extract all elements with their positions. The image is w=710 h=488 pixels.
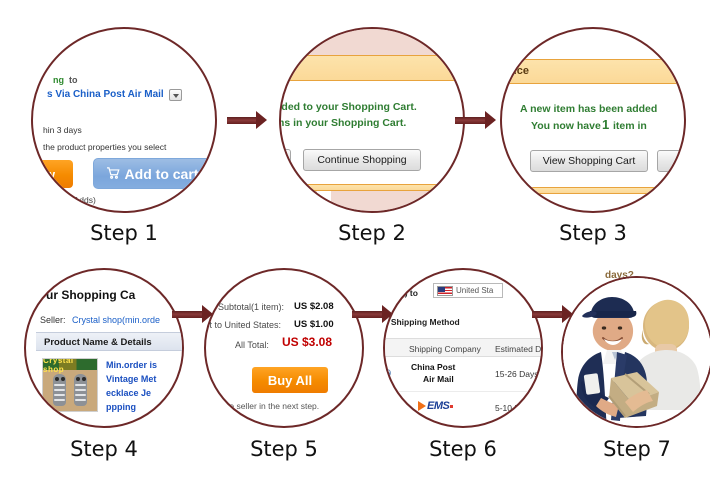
chevron-down-icon[interactable] [169,89,182,101]
partial-button-right[interactable] [657,150,686,172]
ship-to-label: rt(s) to [391,288,418,298]
step2-screenshot: dded to your Shopping Cart. ms in your S… [281,29,463,211]
notice-panel-header: tice [502,59,686,84]
step7-bubble [561,276,710,428]
arrow-step1-step2 [227,111,267,129]
owl-charm-right [74,374,87,406]
cart-message-line1: dded to your Shopping Cart. [279,101,417,113]
all-total-value: US $3.08 [282,335,332,349]
page-background-top [281,29,465,55]
thumbnail-banner-text: Crystal shop [43,359,97,370]
cart-table-header: Product Name & Details [36,332,184,351]
notice-panel-footer [502,187,686,194]
step2-bubble: dded to your Shopping Cart. ms in your S… [279,27,465,213]
step4-label: Step 4 [24,437,184,461]
new-item-message-line2a: You now have [531,120,601,132]
continue-shopping-button[interactable]: Continue Shopping [303,149,421,171]
step1-screenshot: ng to s Via China Post Air Mail hin 3 da… [33,29,215,211]
page-background-bottom-shade [317,191,331,213]
owl-charm-left [53,374,66,406]
new-item-message-line2b: item in [613,120,647,132]
shipping-to-label: to [69,75,78,85]
step3-label: Step 3 [500,221,686,245]
shipping-method-title: se Shipping Method [383,317,460,327]
shipping-label-partial: ng [53,75,64,85]
shipping-table-header: Shipping Company Estimated Deli [385,338,543,357]
step3-bubble: tice A new item has been added You now h… [500,27,686,213]
delivery-photo [563,278,710,426]
all-total-label: All Total: [235,340,269,350]
cart-message-line2: ms in your Shopping Cart. [279,117,406,129]
seller-label: Seller: [40,315,66,325]
step6-screenshot: rt(s) to United Sta se Shipping Method S… [385,270,541,426]
shipping-cost-label: ost to United States: [204,320,281,330]
shipping-company-china-post-line2: Air Mail [423,374,454,384]
step5-bubble: Subtotal(1 item): US $2.08 ost to United… [204,268,364,428]
buy-now-label: ow [37,167,55,182]
product-title-line1[interactable]: Min.order is [106,360,157,370]
product-title-line3[interactable]: ecklace Je [106,388,151,398]
step1-bubble: ng to s Via China Post Air Mail hin 3 da… [31,27,217,213]
step7-label: Step 7 [561,437,710,461]
step3-screenshot: tice A new item has been added You now h… [502,29,684,211]
step5-screenshot: Subtotal(1 item): US $2.08 ost to United… [206,270,362,426]
column-estimated-delivery: Estimated Deli [495,344,543,354]
adds-count-note: 6 Adds) [67,195,96,205]
shipping-row-divider [385,391,543,392]
step6-bubble: rt(s) to United Sta se Shipping Method S… [383,268,543,428]
column-shipping-company: Shipping Company [409,344,481,354]
step5-label: Step 5 [204,437,364,461]
add-to-cart-label: Add to cart [125,166,199,182]
notice-band-bottom [281,184,465,191]
view-shopping-cart-button[interactable]: View Shopping Cart [530,150,648,172]
country-value: United Sta [456,286,493,295]
new-item-message-line1: A new item has been added [520,103,657,115]
new-item-count: 1 [602,117,609,132]
partial-button-left[interactable] [279,149,291,171]
step4-bubble: ur Shopping Ca Seller: Crystal shop(min.… [24,268,184,428]
buy-all-label: Buy All [268,373,312,388]
shipping-company-china-post-line1: China Post [411,362,455,372]
country-selector[interactable]: United Sta [433,283,503,298]
subtotal-value: US $2.08 [294,301,334,312]
notice-band-top [281,55,465,81]
shipping-option-radio-china-post[interactable] [383,369,391,377]
us-flag-icon [437,286,453,296]
arrow-step2-step3 [455,111,497,129]
shipping-cost-value: US $1.00 [294,319,334,330]
delivery-estimate-china-post: 15-26 Days [495,369,538,379]
page-background-bottom [281,191,465,213]
dispatch-note: hin 3 days [43,125,82,135]
delivery-man-handing-package-to-woman-illustration [563,278,710,428]
continue-shopping-label: Continue Shopping [317,154,406,166]
next-step-note: for the seller in the next step. [210,401,319,411]
shipping-option-text[interactable]: s Via China Post Air Mail [47,89,164,100]
product-thumbnail[interactable]: Crystal shop [42,358,98,412]
buy-all-button[interactable]: Buy All [252,367,328,393]
subtotal-label: Subtotal(1 item): [218,302,284,312]
cart-page-title: ur Shopping Ca [46,288,135,302]
how-to-order-steps-infographic: ng to s Via China Post Air Mail hin 3 da… [0,0,710,488]
step6-label: Step 6 [383,437,543,461]
buy-now-button[interactable]: ow [31,160,73,188]
product-title-line4[interactable]: ppping [106,402,136,412]
shopping-cart-icon [106,166,120,182]
step4-screenshot: ur Shopping Ca Seller: Crystal shop(min.… [26,270,182,426]
ems-logo: EMS [418,400,453,412]
add-to-cart-button[interactable]: Add to cart [93,158,211,189]
seller-link[interactable]: Crystal shop(min.orde [72,315,160,325]
notice-panel-title: tice [510,65,529,77]
step1-label: Step 1 [31,221,217,245]
view-shopping-cart-label: View Shopping Cart [543,155,636,167]
step2-label: Step 2 [279,221,465,245]
cart-column-header: Product Name & Details [44,337,152,348]
product-title-line2[interactable]: Vintage Met [106,374,156,384]
delivery-estimate-ems: 5-10 Days [495,403,534,413]
properties-note: the product properties you select [43,142,166,152]
